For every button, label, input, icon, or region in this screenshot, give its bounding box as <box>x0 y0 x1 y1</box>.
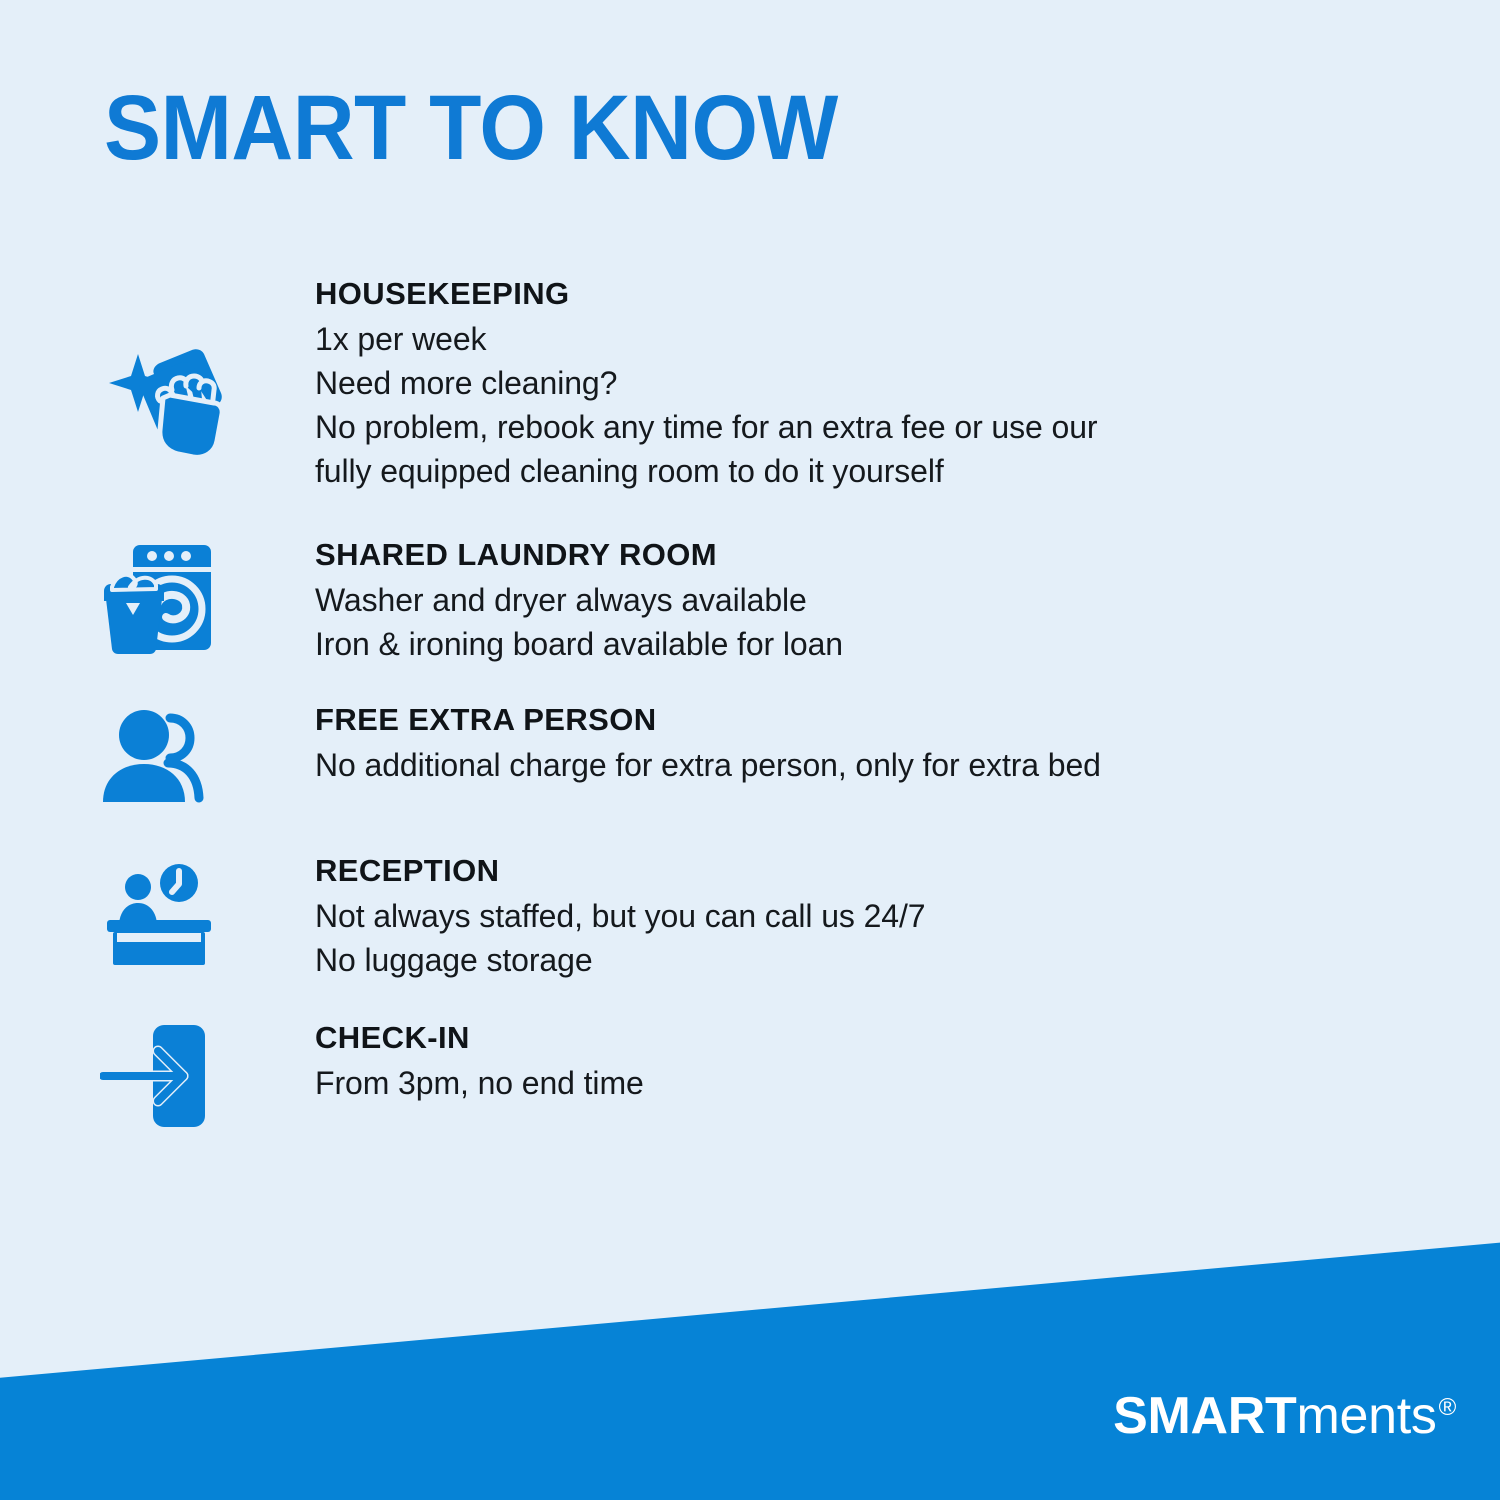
info-list: HOUSEKEEPING 1x per week Need more clean… <box>0 276 1500 1137</box>
text-container: HOUSEKEEPING 1x per week Need more clean… <box>315 276 1500 493</box>
two-people-icon <box>100 706 210 811</box>
washing-machine-icon <box>100 541 220 661</box>
door-enter-arrow-icon <box>100 1020 212 1137</box>
section-line: 1x per week <box>315 317 1500 361</box>
icon-container <box>100 1020 315 1137</box>
registered-trademark-icon: ® <box>1439 1394 1456 1421</box>
icon-container <box>100 702 315 811</box>
section-heading: CHECK-IN <box>315 1020 1500 1057</box>
section-line: Iron & ironing board available for loan <box>315 622 1500 666</box>
section-line: No luggage storage <box>315 938 1500 982</box>
cleaning-hand-icon <box>100 338 228 465</box>
list-item: HOUSEKEEPING 1x per week Need more clean… <box>0 276 1500 493</box>
icon-container <box>100 276 315 465</box>
section-line: fully equipped cleaning room to do it yo… <box>315 449 1500 493</box>
brand-logo: SMARTments® <box>1113 1390 1456 1442</box>
section-line: From 3pm, no end time <box>315 1061 1500 1105</box>
page-title: SMART TO KNOW <box>104 82 838 174</box>
text-container: SHARED LAUNDRY ROOM Washer and dryer alw… <box>315 537 1500 666</box>
text-container: FREE EXTRA PERSON No additional charge f… <box>315 702 1500 787</box>
brand-logo-bold: SMART <box>1113 1387 1296 1445</box>
section-line: Washer and dryer always available <box>315 578 1500 622</box>
section-heading: SHARED LAUNDRY ROOM <box>315 537 1500 574</box>
section-line: Need more cleaning? <box>315 361 1500 405</box>
icon-container <box>100 853 315 977</box>
icon-container <box>100 537 315 661</box>
list-item: FREE EXTRA PERSON No additional charge f… <box>0 702 1500 811</box>
text-container: CHECK-IN From 3pm, no end time <box>315 1020 1500 1105</box>
brand-logo-light: ments <box>1297 1387 1437 1445</box>
list-item: CHECK-IN From 3pm, no end time <box>0 1020 1500 1137</box>
section-heading: RECEPTION <box>315 853 1500 890</box>
list-item: SHARED LAUNDRY ROOM Washer and dryer alw… <box>0 537 1500 666</box>
section-heading: HOUSEKEEPING <box>315 276 1500 313</box>
section-line: No problem, rebook any time for an extra… <box>315 405 1500 449</box>
section-line: Not always staffed, but you can call us … <box>315 894 1500 938</box>
text-container: RECEPTION Not always staffed, but you ca… <box>315 853 1500 982</box>
reception-desk-icon <box>100 857 220 977</box>
list-item: RECEPTION Not always staffed, but you ca… <box>0 853 1500 982</box>
footer-banner <box>0 1240 1500 1500</box>
section-heading: FREE EXTRA PERSON <box>315 702 1500 739</box>
poster-canvas: SMART TO KNOW <box>0 0 1500 1500</box>
section-line: No additional charge for extra person, o… <box>315 743 1500 787</box>
